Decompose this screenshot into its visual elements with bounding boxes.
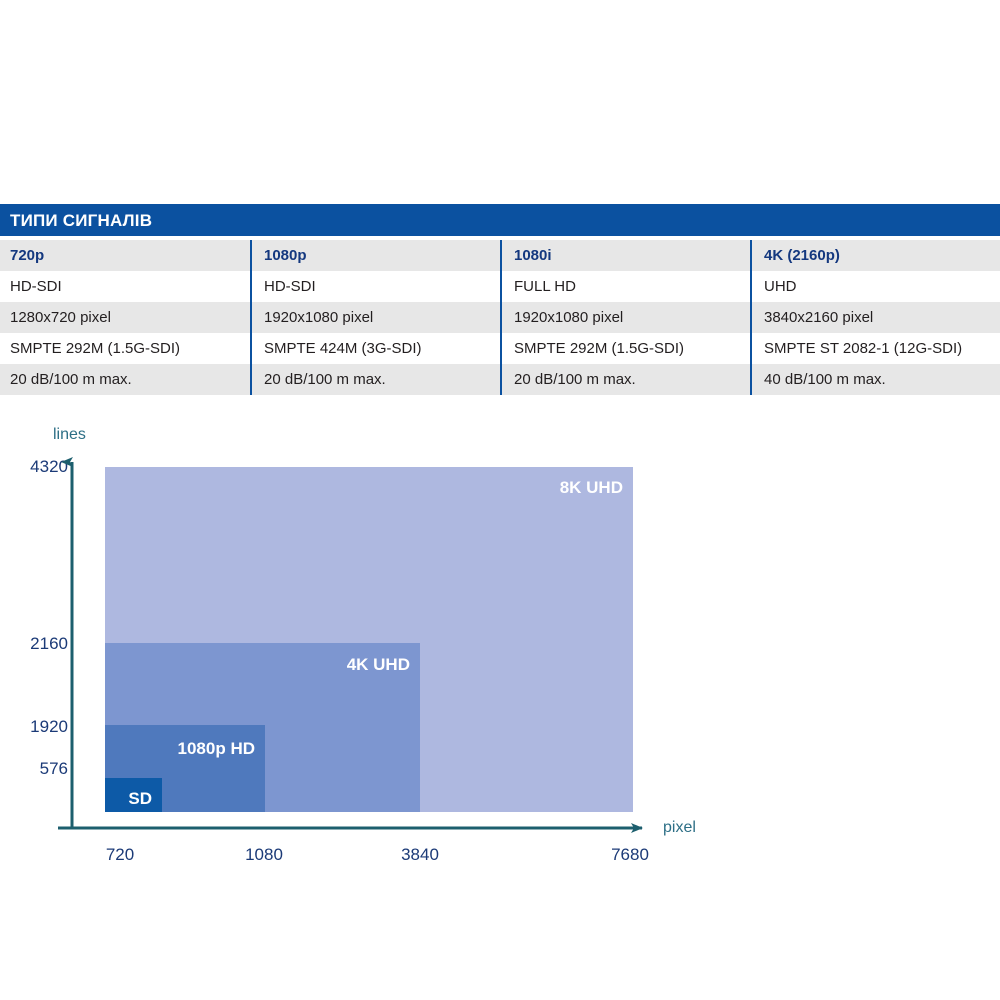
cell-4k-standard: UHD xyxy=(750,271,1000,302)
y-tick-2160: 2160 xyxy=(30,634,68,653)
bar-label-sd: SD xyxy=(128,789,152,808)
x-tick-7680: 7680 xyxy=(611,845,649,864)
table-header-row: 720p 1080p 1080i 4K (2160p) xyxy=(0,240,1000,271)
cell-720p-standard: HD-SDI xyxy=(0,271,250,302)
cell-4k-resolution: 3840x2160 pixel xyxy=(750,302,1000,333)
cell-720p-attenuation: 20 dB/100 m max. xyxy=(0,364,250,395)
table-header-1080i: 1080i xyxy=(500,240,750,271)
y-tick-4320: 4320 xyxy=(30,457,68,476)
x-tick-3840: 3840 xyxy=(401,845,439,864)
table-row: 20 dB/100 m max. 20 dB/100 m max. 20 dB/… xyxy=(0,364,1000,395)
bar-label-1080p-hd: 1080p HD xyxy=(178,739,255,758)
table-header-720p: 720p xyxy=(0,240,250,271)
chart-canvas: lines 4320 2160 1920 576 8K UHD 4K UHD 1… xyxy=(0,410,1000,890)
y-tick-576: 576 xyxy=(40,759,68,778)
table-header-1080p: 1080p xyxy=(250,240,500,271)
x-tick-720: 720 xyxy=(106,845,134,864)
cell-1080i-standard: FULL HD xyxy=(500,271,750,302)
y-tick-1920: 1920 xyxy=(30,717,68,736)
table-row: SMPTE 292M (1.5G-SDI) SMPTE 424M (3G-SDI… xyxy=(0,333,1000,364)
bar-label-4k-uhd: 4K UHD xyxy=(347,655,410,674)
bar-label-8k-uhd: 8K UHD xyxy=(560,478,623,497)
cell-720p-smpte: SMPTE 292M (1.5G-SDI) xyxy=(0,333,250,364)
table-title-bar: ТИПИ СИГНАЛІВ xyxy=(0,204,1000,236)
cell-720p-resolution: 1280x720 pixel xyxy=(0,302,250,333)
cell-4k-attenuation: 40 dB/100 m max. xyxy=(750,364,1000,395)
x-axis-title: pixel xyxy=(663,819,696,836)
resolution-comparison-chart: lines 4320 2160 1920 576 8K UHD 4K UHD 1… xyxy=(0,410,1000,890)
signal-types-table: ТИПИ СИГНАЛІВ 720p 1080p 1080i 4K (2160p… xyxy=(0,204,1000,395)
x-tick-1080: 1080 xyxy=(245,845,283,864)
table-row: 1280x720 pixel 1920x1080 pixel 1920x1080… xyxy=(0,302,1000,333)
cell-1080p-resolution: 1920x1080 pixel xyxy=(250,302,500,333)
cell-1080p-standard: HD-SDI xyxy=(250,271,500,302)
cell-1080i-resolution: 1920x1080 pixel xyxy=(500,302,750,333)
cell-1080p-smpte: SMPTE 424M (3G-SDI) xyxy=(250,333,500,364)
y-axis-title: lines xyxy=(53,426,86,443)
cell-4k-smpte: SMPTE ST 2082-1 (12G-SDI) xyxy=(750,333,1000,364)
table-header-4k: 4K (2160p) xyxy=(750,240,1000,271)
cell-1080i-smpte: SMPTE 292M (1.5G-SDI) xyxy=(500,333,750,364)
cell-1080i-attenuation: 20 dB/100 m max. xyxy=(500,364,750,395)
page-title: ТИПИ СИГНАЛІВ xyxy=(10,212,152,229)
cell-1080p-attenuation: 20 dB/100 m max. xyxy=(250,364,500,395)
table-row: HD-SDI HD-SDI FULL HD UHD xyxy=(0,271,1000,302)
